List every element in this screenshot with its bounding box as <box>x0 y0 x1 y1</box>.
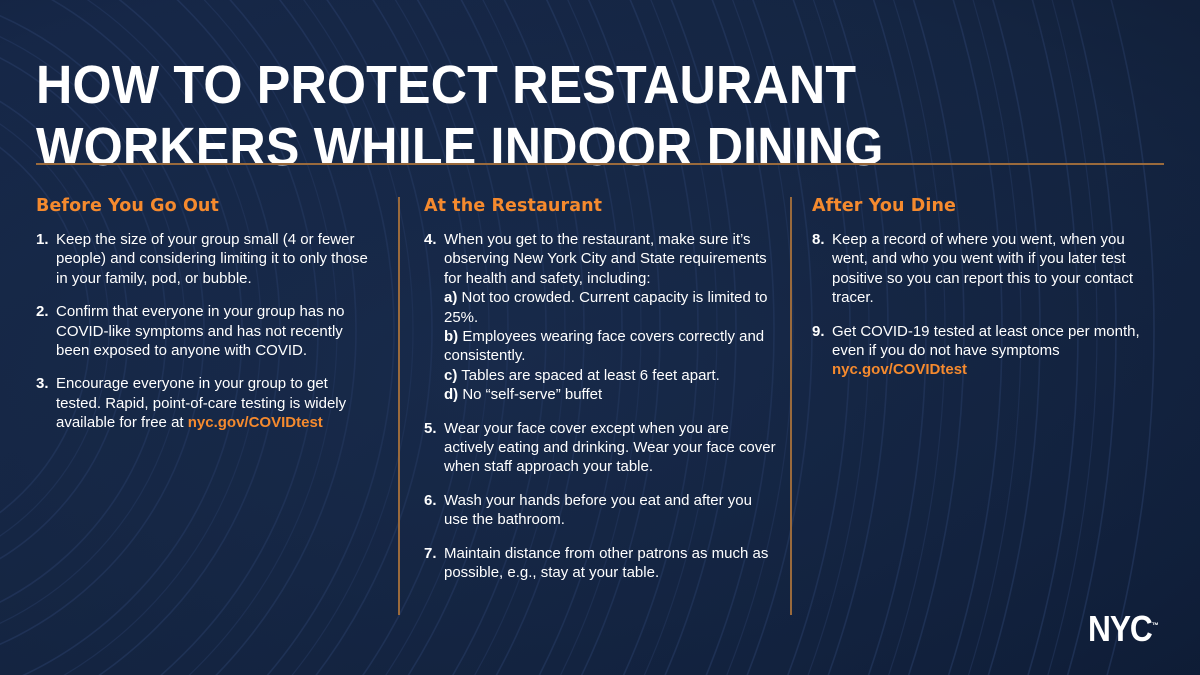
sub-item: d) No “self-serve” buffet <box>444 385 776 404</box>
sub-item-text: No “self-serve” buffet <box>462 386 602 403</box>
item-number: 3. <box>36 374 49 393</box>
sub-item-list: a) Not too crowded. Current capacity is … <box>444 288 776 404</box>
item-text: Wear your face cover except when you are… <box>444 419 776 477</box>
item-number: 8. <box>812 230 825 249</box>
list-item: 5. Wear your face cover except when you … <box>424 419 776 477</box>
sub-item-text: Not too crowded. Current capacity is lim… <box>444 289 767 325</box>
sub-item-letter: b) <box>444 328 458 345</box>
item-text: Get COVID-19 tested at least once per mo… <box>832 322 1160 380</box>
list-item: 4. When you get to the restaurant, make … <box>424 230 776 405</box>
column-divider-2 <box>790 197 792 615</box>
nyc-logo: NYC™ <box>1088 608 1159 647</box>
item-text: When you get to the restaurant, make sur… <box>444 230 776 288</box>
sub-item-letter: a) <box>444 289 457 306</box>
sub-item-letter: d) <box>444 386 458 403</box>
item-text: Wash your hands before you eat and after… <box>444 491 776 530</box>
item-number: 7. <box>424 544 437 563</box>
sub-item-text: Employees wearing face covers correctly … <box>444 328 764 364</box>
item-text: Keep the size of your group small (4 or … <box>56 230 376 288</box>
list-item: 7. Maintain distance from other patrons … <box>424 544 776 583</box>
column-divider-1 <box>398 197 400 615</box>
item-list: 4. When you get to the restaurant, make … <box>424 230 776 583</box>
item-list: 8. Keep a record of where you went, when… <box>812 230 1160 380</box>
item-number: 2. <box>36 302 49 321</box>
item-text: Confirm that everyone in your group has … <box>56 302 376 360</box>
item-text-lead: Get COVID-19 tested at least once per mo… <box>832 323 1140 359</box>
column-at-the-restaurant: At the Restaurant 4. When you get to the… <box>424 196 776 583</box>
list-item: 2. Confirm that everyone in your group h… <box>36 302 376 360</box>
item-text: Encourage everyone in your group to get … <box>56 374 376 432</box>
nyc-logo-text: NYC <box>1088 608 1152 649</box>
sub-item: a) Not too crowded. Current capacity is … <box>444 288 776 327</box>
item-number: 1. <box>36 230 49 249</box>
sub-item: b) Employees wearing face covers correct… <box>444 327 776 366</box>
column-before-you-go-out: Before You Go Out 1. Keep the size of yo… <box>36 196 376 433</box>
trademark-mark: ™ <box>1152 621 1159 630</box>
item-number: 4. <box>424 230 437 249</box>
item-number: 9. <box>812 322 825 341</box>
list-item: 8. Keep a record of where you went, when… <box>812 230 1160 308</box>
item-list: 1. Keep the size of your group small (4 … <box>36 230 376 433</box>
column-heading: At the Restaurant <box>424 196 776 216</box>
list-item: 3. Encourage everyone in your group to g… <box>36 374 376 432</box>
list-item: 1. Keep the size of your group small (4 … <box>36 230 376 288</box>
covid-test-link[interactable]: nyc.gov/COVIDtest <box>832 361 967 378</box>
item-number: 6. <box>424 491 437 510</box>
sub-item: c) Tables are spaced at least 6 feet apa… <box>444 366 776 385</box>
column-heading: After You Dine <box>812 196 1160 216</box>
column-after-you-dine: After You Dine 8. Keep a record of where… <box>812 196 1160 380</box>
sub-item-text: Tables are spaced at least 6 feet apart. <box>461 367 720 384</box>
covid-test-link[interactable]: nyc.gov/COVIDtest <box>188 414 323 431</box>
item-text: Maintain distance from other patrons as … <box>444 544 776 583</box>
list-item: 6. Wash your hands before you eat and af… <box>424 491 776 530</box>
item-text: Keep a record of where you went, when yo… <box>832 230 1160 308</box>
poster-canvas: HOW TO PROTECT RESTAURANT WORKERS WHILE … <box>0 0 1200 675</box>
list-item: 9. Get COVID-19 tested at least once per… <box>812 322 1160 380</box>
page-title: HOW TO PROTECT RESTAURANT WORKERS WHILE … <box>36 54 966 178</box>
sub-item-letter: c) <box>444 367 457 384</box>
header-divider <box>36 163 1164 165</box>
column-heading: Before You Go Out <box>36 196 376 216</box>
item-number: 5. <box>424 419 437 438</box>
